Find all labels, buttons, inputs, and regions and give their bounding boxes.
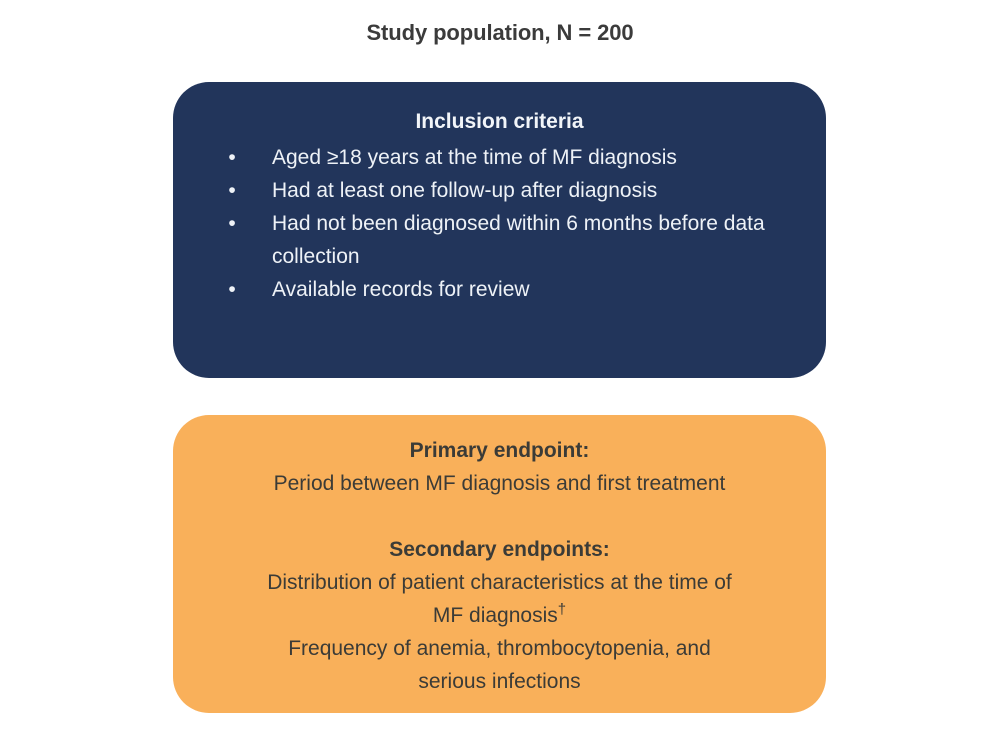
list-item: • Aged ≥18 years at the time of MF diagn…: [193, 141, 806, 174]
secondary-endpoint-line: serious infections: [191, 665, 808, 698]
bullet-icon: •: [227, 174, 237, 207]
list-item: • Had at least one follow-up after diagn…: [193, 174, 806, 207]
list-item-label: Aged ≥18 years at the time of MF diagnos…: [272, 146, 677, 169]
list-item: • Had not been diagnosed within 6 months…: [193, 207, 806, 273]
study-design-figure: Study population, N = 200 Inclusion crit…: [0, 0, 1000, 734]
bullet-icon: •: [227, 207, 237, 240]
inclusion-criteria-list: • Aged ≥18 years at the time of MF diagn…: [193, 141, 806, 306]
section-spacer: [191, 500, 808, 533]
secondary-endpoint-line: MF diagnosis†: [191, 599, 808, 632]
list-item: • Available records for review: [193, 273, 806, 306]
bullet-icon: •: [227, 273, 237, 306]
list-item-label: Had at least one follow-up after diagnos…: [272, 179, 657, 202]
secondary-endpoint-line: Frequency of anemia, thrombocytopenia, a…: [191, 632, 808, 665]
primary-endpoint-line: Period between MF diagnosis and first tr…: [191, 467, 808, 500]
secondary-endpoint-line-text: MF diagnosis: [433, 604, 558, 627]
endpoints-card: Primary endpoint: Period between MF diag…: [173, 415, 826, 713]
list-item-label: Had not been diagnosed within 6 months b…: [272, 212, 765, 268]
inclusion-criteria-card: Inclusion criteria • Aged ≥18 years at t…: [173, 82, 826, 378]
page-title: Study population, N = 200: [0, 20, 1000, 46]
secondary-endpoint-line: Distribution of patient characteristics …: [191, 566, 808, 599]
inclusion-criteria-heading: Inclusion criteria: [193, 108, 806, 136]
secondary-endpoints-heading: Secondary endpoints:: [191, 533, 808, 566]
primary-endpoint-heading: Primary endpoint:: [191, 434, 808, 467]
footnote-marker: †: [558, 601, 566, 618]
list-item-label: Available records for review: [272, 278, 530, 301]
bullet-icon: •: [227, 141, 237, 174]
